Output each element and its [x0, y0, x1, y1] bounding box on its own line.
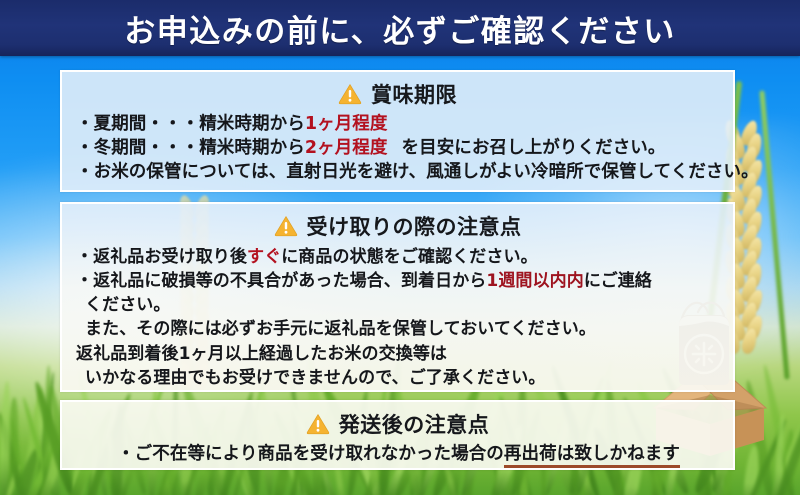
notice-graphic: (function(){ var layer = document.curren… — [0, 0, 800, 495]
notice-text-run: すぐ — [247, 247, 281, 267]
notice-line: いかなる理由でもお受けできませんので、ご了承ください。 — [76, 366, 721, 390]
notice-panel-expiry: 賞味期限 ・夏期間・・・精米時期から1ヶ月程度・冬期間・・・精米時期から2ヶ月程… — [60, 70, 735, 192]
panel-header-after-shipping: 発送後の注意点 — [62, 402, 733, 439]
notice-text-run: ・ご不在等により商品を受け取れなかった場合の — [117, 444, 504, 464]
notice-line: ください。 — [76, 293, 721, 317]
notice-line: また、その際には必ずお手元に返礼品を保管しておいてください。 — [76, 317, 721, 341]
notice-text-run: にご連絡 — [584, 271, 652, 291]
notice-text-run: ください。 — [85, 295, 171, 315]
notice-line: ・返礼品お受け取り後すぐに商品の状態をご確認ください。 — [76, 245, 721, 269]
panel-title-receiving: 受け取りの際の注意点 — [307, 211, 522, 241]
notice-text-run: を目安にお召し上がりください。 — [402, 138, 666, 158]
panel-title-expiry: 賞味期限 — [371, 79, 457, 109]
notice-text-run: また、その際には必ずお手元に返礼品を保管しておいてください。 — [85, 319, 596, 339]
panel-body-expiry: ・夏期間・・・精米時期から1ヶ月程度・冬期間・・・精米時期から2ヶ月程度を目安に… — [62, 109, 733, 184]
notice-text-run: ・返礼品に破損等の不具合があった場合、到着日から — [76, 271, 486, 291]
notice-text-run: 2ヶ月程度 — [305, 138, 388, 158]
page-header: お申込みの前に、必ずご確認ください — [0, 0, 800, 56]
notice-panel-receiving: 受け取りの際の注意点 ・返礼品お受け取り後すぐに商品の状態をご確認ください。・返… — [60, 202, 735, 392]
warning-triangle-icon — [274, 215, 298, 237]
notice-line: ・返礼品に破損等の不具合があった場合、到着日から1週間以内内にご連絡 — [76, 269, 721, 293]
notice-text-run: ・返礼品お受け取り後 — [76, 247, 247, 267]
notice-text-run: ・冬期間・・・精米時期から — [76, 138, 305, 158]
panel-title-after-shipping: 発送後の注意点 — [339, 409, 490, 439]
notice-text-run: ・夏期間・・・精米時期から — [76, 114, 305, 134]
notice-line: ・お米の保管については、直射日光を避け、風通しがよい冷暗所で保管してください。 — [76, 161, 721, 185]
panel-body-receiving: ・返礼品お受け取り後すぐに商品の状態をご確認ください。・返礼品に破損等の不具合が… — [62, 241, 733, 390]
notice-text-run: ・お米の保管については、直射日光を避け、風通しがよい冷暗所で保管してください。 — [76, 162, 759, 182]
notice-line: ・ご不在等により商品を受け取れなかった場合の再出荷は致しかねます — [76, 443, 721, 466]
warning-triangle-icon — [306, 413, 330, 435]
panel-body-after-shipping: ・ご不在等により商品を受け取れなかった場合の再出荷は致しかねます — [62, 439, 733, 466]
notice-text-run: いかなる理由でもお受けできませんので、ご了承ください。 — [85, 368, 546, 388]
panel-header-expiry: 賞味期限 — [62, 72, 733, 109]
notice-line: 返礼品到着後1ヶ月以上経過したお米の交換等は — [76, 342, 721, 366]
warning-triangle-icon — [338, 83, 362, 105]
notice-text-run: 返礼品到着後1ヶ月以上経過したお米の交換等は — [76, 344, 447, 364]
notice-text-run: 1週間以内内 — [486, 271, 583, 291]
panel-header-receiving: 受け取りの際の注意点 — [62, 204, 733, 241]
notice-panel-after-shipping: 発送後の注意点 ・ご不在等により商品を受け取れなかった場合の再出荷は致しかねます — [60, 400, 735, 470]
notice-text-run: 1ヶ月程度 — [305, 114, 388, 134]
notice-line: ・冬期間・・・精米時期から2ヶ月程度を目安にお召し上がりください。 — [76, 137, 721, 161]
notice-text-run: 再出荷は致しかねます — [504, 444, 680, 468]
notice-line: ・夏期間・・・精米時期から1ヶ月程度 — [76, 113, 721, 137]
page-title: お申込みの前に、必ずご確認ください — [124, 6, 676, 51]
notice-text-run: に商品の状態をご確認ください。 — [281, 247, 538, 267]
